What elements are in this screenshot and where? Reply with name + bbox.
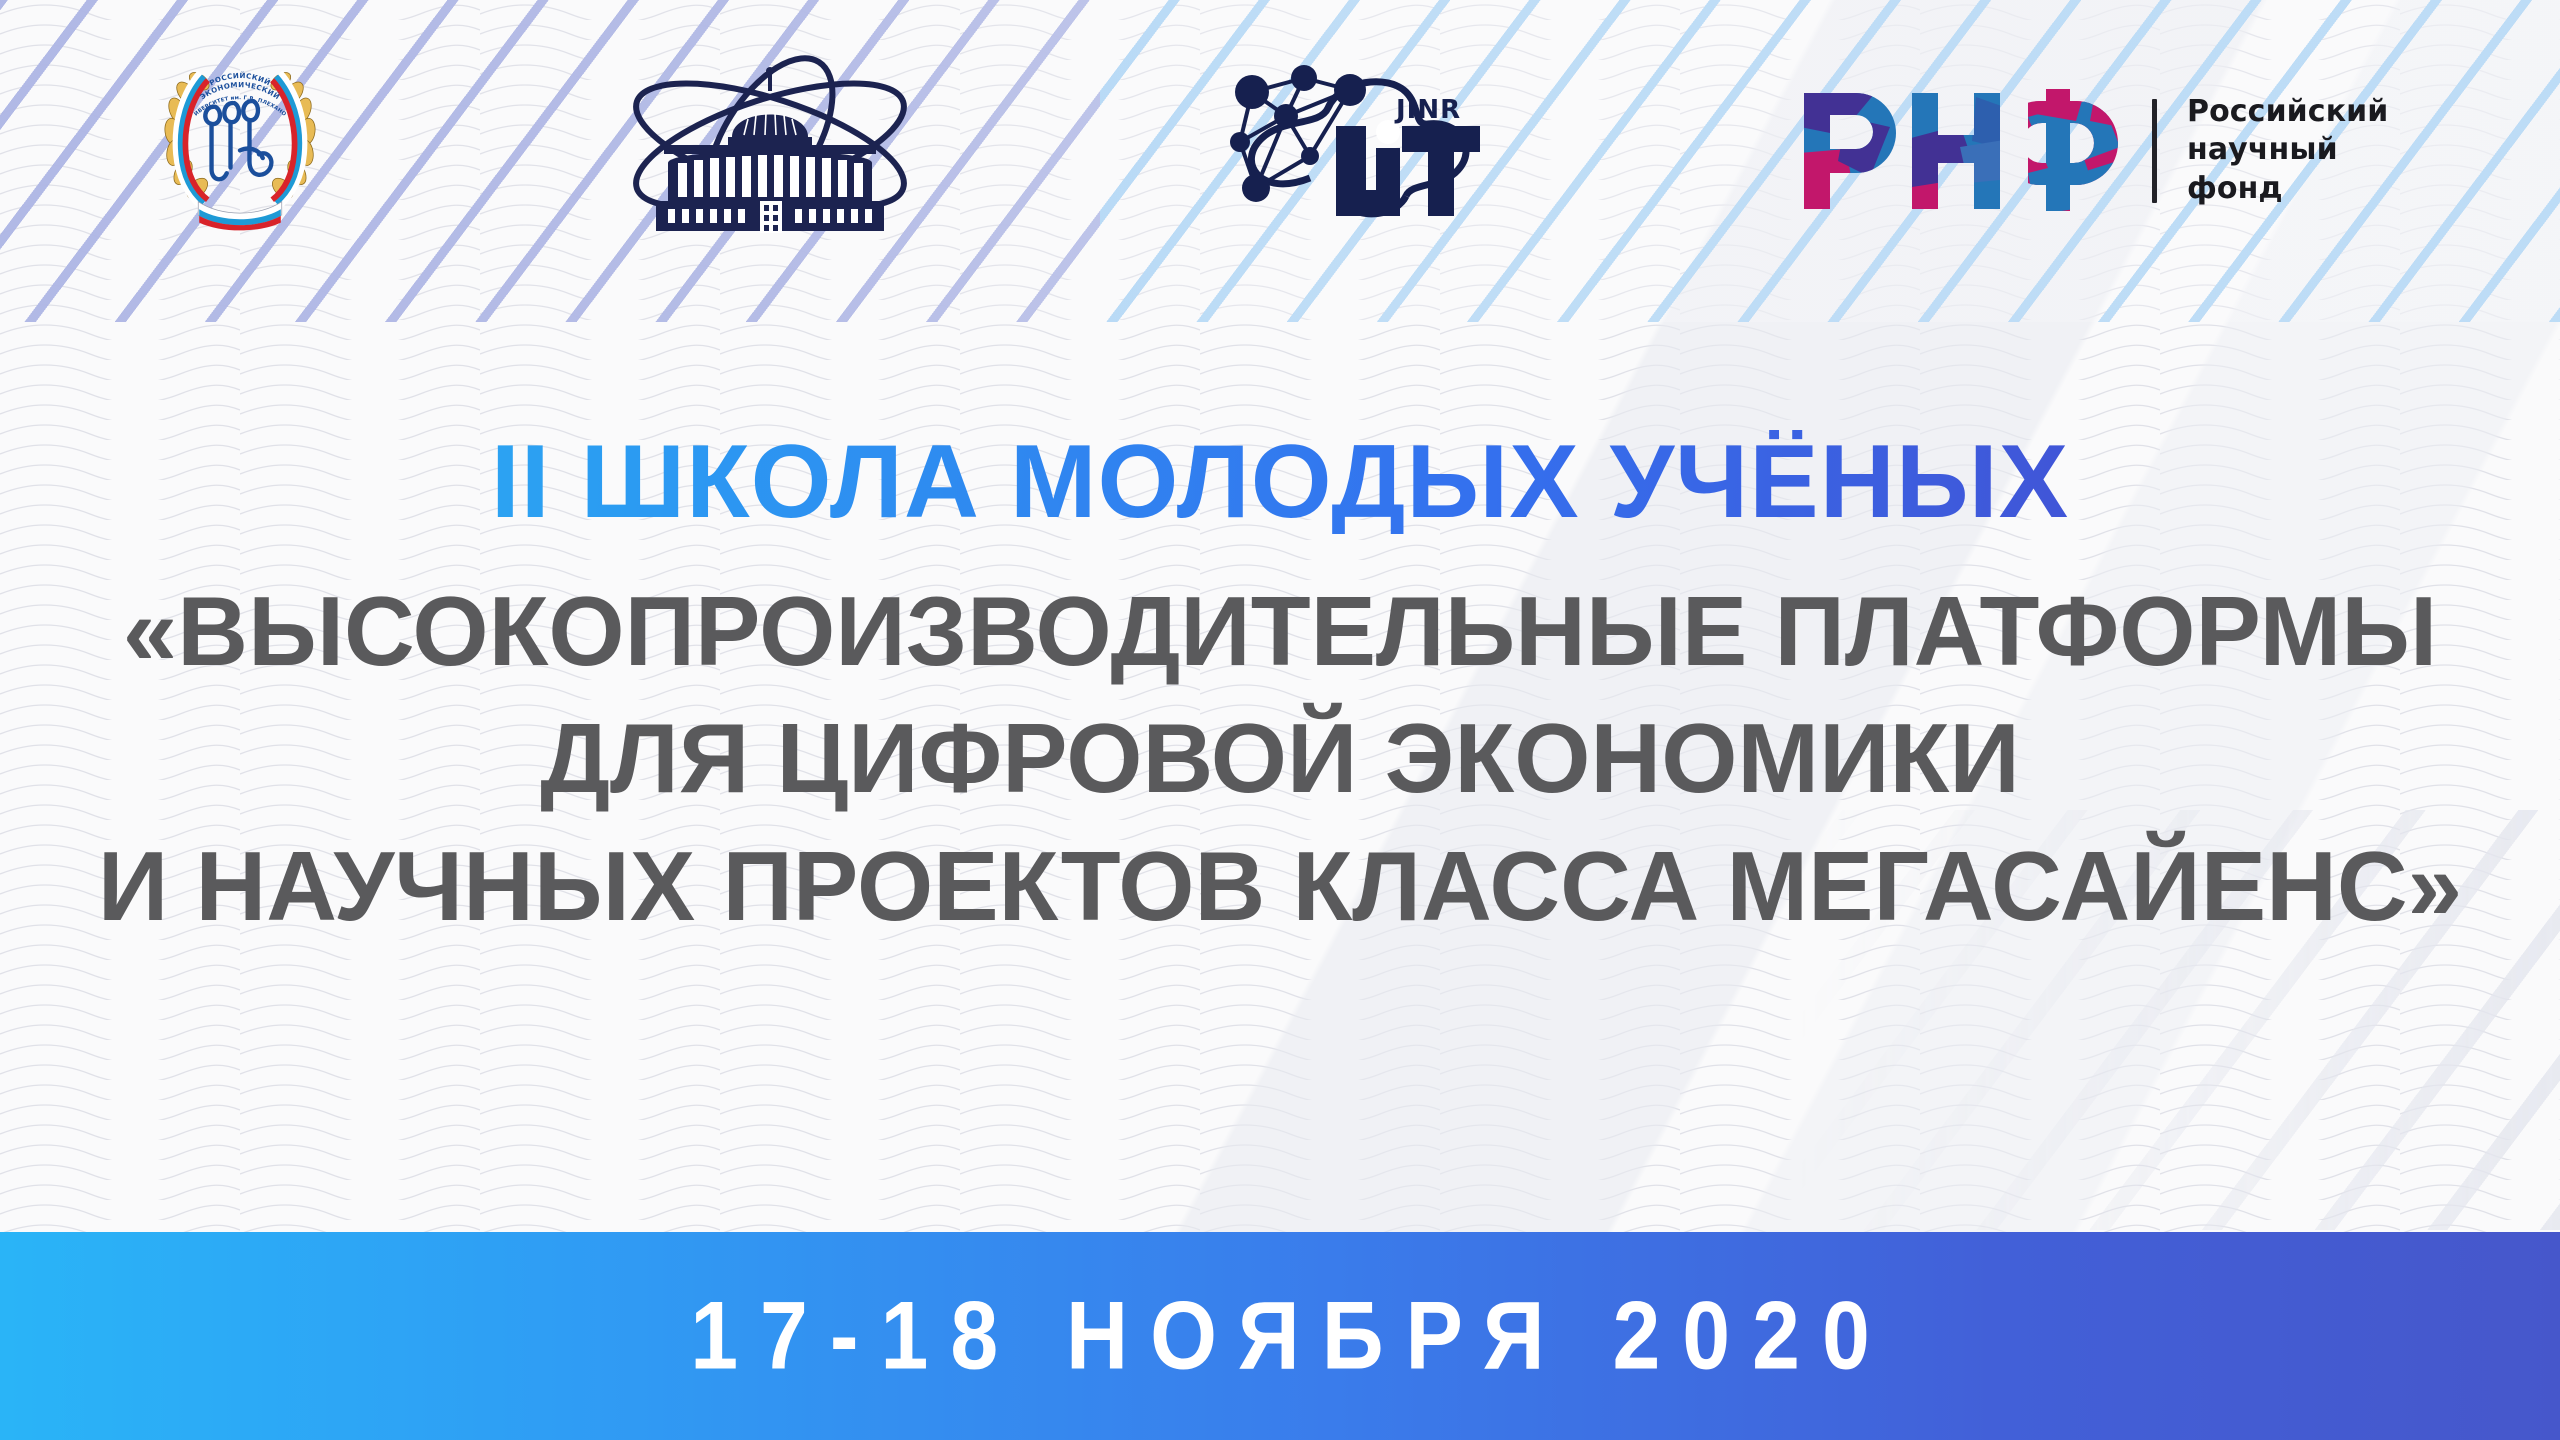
- date-banner: 17-18 НОЯБРЯ 2020: [0, 1232, 2560, 1440]
- subtitle-line-1: «ВЫСОКОПРОИЗВОДИТЕЛЬНЫЕ ПЛАТФОРМЫ: [0, 568, 2560, 695]
- svg-text:JINR: JINR: [1394, 95, 1461, 125]
- rsf-name-text: Российский научный фонд: [2187, 93, 2388, 207]
- headline-block: II ШКОЛА МОЛОДЫХ УЧЁНЫХ «ВЫСОКОПРОИЗВОДИ…: [0, 430, 2560, 950]
- lit-jinr-logo: JINR: [1200, 30, 1520, 230]
- russian-science-foundation-logo: Российский научный фонд: [1800, 78, 2260, 223]
- subtitle-line-2: ДЛЯ ЦИФРОВОЙ ЭКОНОМИКИ: [0, 695, 2560, 822]
- rsf-wordmark-icon: [1800, 87, 2130, 215]
- event-poster: РОССИЙСКИЙ ЭКОНОМИЧЕСКИЙ УНИВЕРСИТЕТ им.…: [0, 0, 2560, 1440]
- plekhanov-university-logo: РОССИЙСКИЙ ЭКОНОМИЧЕСКИЙ УНИВЕРСИТЕТ им.…: [145, 48, 335, 233]
- logo-row: РОССИЙСКИЙ ЭКОНОМИЧЕСКИЙ УНИВЕРСИТЕТ им.…: [0, 0, 2560, 322]
- subtitle-line-3: И НАУЧНЫХ ПРОЕКТОВ КЛАССА МЕГАСАЙЕНС»: [0, 823, 2560, 950]
- event-date: 17-18 НОЯБРЯ 2020: [668, 1281, 1892, 1392]
- jinr-logo: [620, 45, 920, 235]
- rsf-divider: [2152, 99, 2157, 203]
- page-title: II ШКОЛА МОЛОДЫХ УЧЁНЫХ: [0, 430, 2560, 534]
